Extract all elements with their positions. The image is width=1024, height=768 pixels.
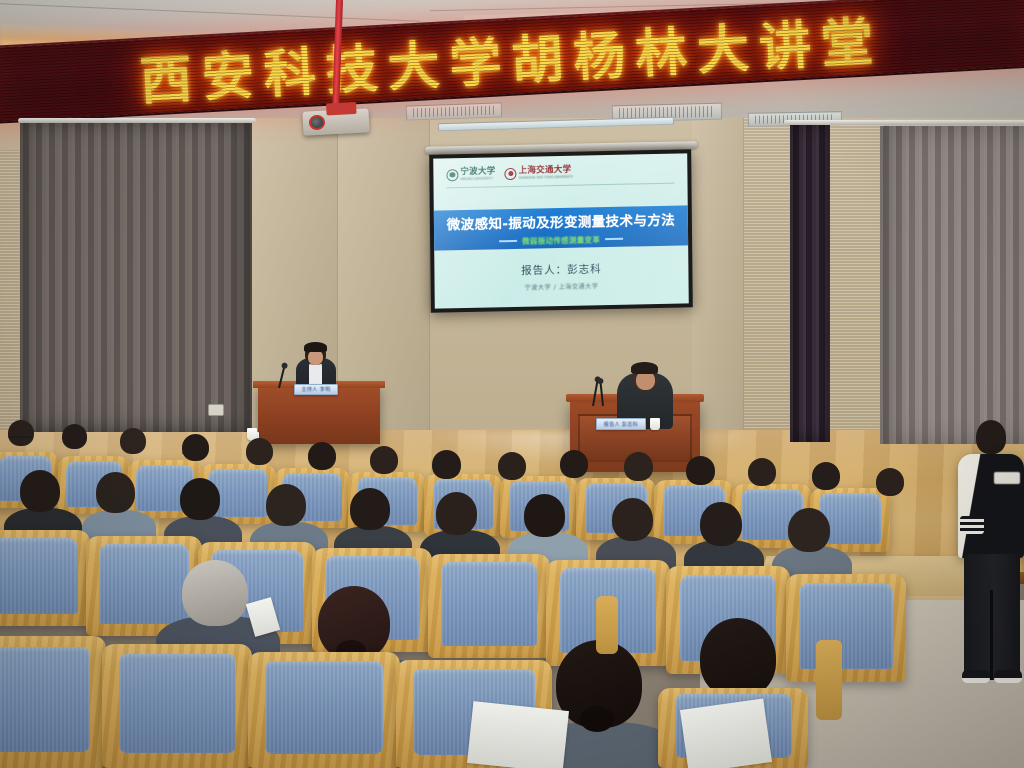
nameplate-moderator-text: 主持人 李明: [302, 386, 331, 393]
audience-head: [370, 446, 398, 474]
auditorium-seat: [0, 636, 106, 768]
audience-head: [788, 508, 830, 552]
audience-head: [560, 450, 588, 478]
auditorium-seat: [786, 574, 906, 682]
slide-subtitle-row: 微弱振动传感测量变革: [499, 233, 623, 247]
auditorium-seat: [428, 554, 550, 658]
wall-panel-ribbed-far-right: [828, 120, 886, 444]
audience-head: [748, 458, 776, 486]
audience-head: [180, 478, 220, 520]
standing-person-leg-split: [990, 590, 993, 680]
moderator-shirt: [309, 362, 322, 384]
logo-ningbo-university: 宁波大学 NINGBO UNIVERSITY: [446, 167, 495, 182]
subtitle-dash-right: [605, 238, 623, 240]
audience-head: [700, 502, 742, 546]
logo-right-label: 上海交通大学: [519, 165, 574, 175]
audience-head: [62, 424, 87, 449]
standing-person-shoe-left: [962, 670, 990, 683]
audience-head: [96, 472, 135, 513]
jacket-sleeve-stripe: [960, 516, 984, 534]
wall-panel-3: [692, 118, 744, 438]
hair-tie: [580, 706, 614, 732]
standing-person-jacket: [958, 454, 1024, 558]
standing-person-head: [976, 420, 1006, 454]
logo-sjtu: 上海交通大学 SHANGHAI JIAO TONG UNIVERSITY: [505, 165, 574, 180]
seat-armrest: [816, 640, 842, 720]
audience-head: [8, 420, 34, 446]
audience-head: [524, 494, 565, 537]
auditorium-seat: [0, 530, 90, 626]
jacket-logo-patch: [994, 472, 1020, 484]
audience-head: [246, 438, 273, 465]
audience-head: [612, 498, 653, 541]
moderator-face: [308, 350, 323, 365]
curtain-left: [20, 120, 252, 432]
eyeglasses: [8, 436, 32, 438]
logo-left-label: 宁波大学: [460, 167, 495, 176]
wall-outlet: [208, 404, 224, 416]
audience-head-grey: [182, 560, 248, 626]
audience-head: [498, 452, 526, 480]
logo-right-sublabel: SHANGHAI JIAO TONG UNIVERSITY: [519, 175, 574, 180]
eyeglasses: [182, 452, 207, 454]
ceiling-projector: [302, 108, 369, 135]
slide-affiliation: 宁波大学 / 上海交通大学: [435, 279, 689, 293]
seat-armrest: [596, 596, 618, 654]
audience-head: [624, 452, 653, 481]
curtain-rod-left: [18, 118, 256, 123]
lecture-hall-photo: 西安科技大学胡杨林大讲堂 宁波大学 NINGBO UNIVERSITY: [0, 0, 1024, 768]
logo-left-sublabel: NINGBO UNIVERSITY: [460, 177, 495, 182]
wall-panel-ribbed-right: [744, 118, 792, 440]
audience-head: [812, 462, 840, 490]
audience-head: [436, 492, 477, 535]
moderator-hair: [304, 342, 327, 352]
projection-screen: 宁波大学 NINGBO UNIVERSITY 上海交通大学 SHANGHAI J…: [429, 149, 693, 312]
curtain-right: [880, 126, 1024, 444]
presentation-slide: 宁波大学 NINGBO UNIVERSITY 上海交通大学 SHANGHAI J…: [433, 153, 689, 308]
projector-lens-icon: [309, 115, 326, 131]
university-seal-red-icon: [505, 167, 517, 179]
audience-head: [20, 470, 60, 512]
curtain-rod-right: [784, 120, 1024, 125]
audience-head: [350, 488, 390, 530]
slide-subtitle: 微弱振动传感测量变革: [522, 234, 600, 247]
audience-head: [266, 484, 306, 526]
slide-title-band: 微波感知-振动及形变测量技术与方法 微弱振动传感测量变革: [434, 205, 688, 250]
handout-paper: [680, 698, 772, 768]
audience-head: [120, 428, 146, 454]
handout-paper: [467, 701, 569, 768]
subtitle-dash-left: [499, 240, 517, 242]
standing-person-shoe-right: [994, 670, 1022, 683]
speaker-hair: [631, 362, 658, 374]
auditorium-seat: [102, 644, 252, 768]
audience-head: [308, 442, 336, 470]
nameplate-moderator: 主持人 李明: [294, 384, 338, 395]
screen-frame: 宁波大学 NINGBO UNIVERSITY 上海交通大学 SHANGHAI J…: [429, 149, 693, 312]
slide-title: 微波感知-振动及形变测量技术与方法: [447, 208, 676, 233]
audience-head: [182, 434, 209, 461]
audience-head: [876, 468, 904, 496]
paper-cup-lectern: [650, 418, 660, 430]
nameplate-speaker-text: 报告人 彭志科: [604, 421, 638, 428]
curtain-dark-right: [790, 122, 830, 442]
audience-head: [432, 450, 461, 479]
audience-head-dark: [700, 618, 776, 698]
audience-head: [686, 456, 715, 485]
slide-speaker-line: 报告人：彭志科: [434, 259, 688, 279]
projector-mount: [326, 102, 357, 116]
nameplate-speaker: 报告人 彭志科: [596, 418, 646, 430]
university-seal-icon: [446, 169, 458, 181]
auditorium-seat: [248, 652, 400, 768]
